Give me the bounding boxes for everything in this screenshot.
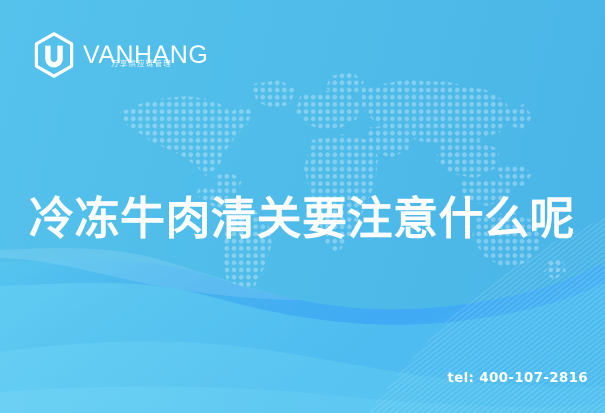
logo-subtitle: 万享供应链管理 <box>111 60 172 68</box>
promotional-banner: VANHANG 万享供应链管理 冷冻牛肉清关要注意什么呢 tel: 400-10… <box>0 0 605 413</box>
contact-telephone: tel: 400-107-2816 <box>447 370 588 386</box>
headline-title: 冷冻牛肉清关要注意什么呢 <box>29 193 581 245</box>
brand-logo[interactable]: VANHANG 万享供应链管理 <box>33 31 208 79</box>
logo-text-group: VANHANG 万享供应链管理 <box>83 34 208 76</box>
hexagon-shield-u-icon <box>33 32 75 78</box>
